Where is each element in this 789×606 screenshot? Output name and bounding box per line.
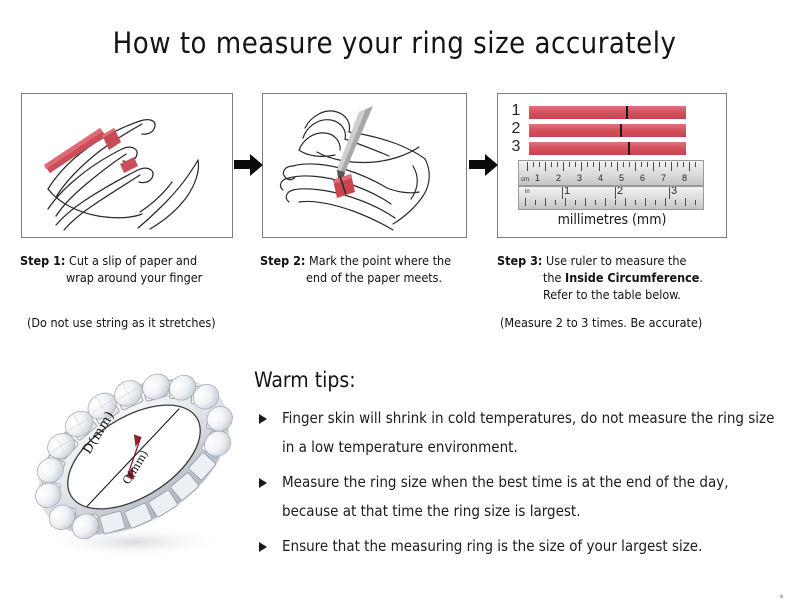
- step-1-note: (Do not use string as it stretches): [27, 315, 216, 330]
- step-3-caption: Step 3: Use ruler to measure the the Ins…: [497, 252, 747, 303]
- inside-circumference-emphasis: Inside Circumference: [565, 270, 699, 285]
- ruler-cm-scale: cm 1 2 3 4 5 6 7 8: [518, 160, 704, 186]
- ruler-cm-label: 1: [535, 174, 540, 183]
- hand-with-paper-slip-illustration: [22, 94, 233, 238]
- strip-mark: [628, 142, 630, 155]
- step-3-label: Step 3:: [497, 253, 542, 268]
- paper-strip-row: 1: [508, 106, 696, 119]
- warm-tip-item: Ensure that the measuring ring is the si…: [255, 532, 775, 561]
- step-2-label: Step 2:: [260, 253, 305, 268]
- warm-tips-heading: Warm tips:: [254, 368, 356, 392]
- ring-figure: D(mm) C(mm): [18, 352, 250, 567]
- paper-strip-row: 3: [508, 142, 696, 155]
- ruler-cm-unit: cm: [521, 176, 529, 185]
- scan-artifact-speck: [780, 595, 783, 598]
- warm-tip-item: Measure the ring size when the best time…: [255, 468, 775, 526]
- hand-marking-paper-with-pen-illustration: [263, 94, 467, 238]
- arrow-head: [250, 154, 263, 176]
- bullet-triangle-icon: [259, 414, 267, 424]
- step-1-caption: Step 1: Cut a slip of paper and wrap aro…: [20, 252, 252, 286]
- ruler-inch-label: 2: [617, 187, 623, 196]
- step-1-line1: Cut a slip of paper and: [69, 253, 197, 268]
- page-title: How to measure your ring size accurately: [0, 26, 789, 60]
- ruler-inch-scale: in 1 2 3: [518, 186, 704, 210]
- ruler-inch-label: 1: [564, 187, 570, 196]
- step-2-caption: Step 2: Mark the point where the end of …: [260, 252, 485, 286]
- warm-tip-text: Finger skin will shrink in cold temperat…: [282, 409, 774, 456]
- strip-number: 1: [508, 102, 524, 120]
- step-1-panel: [21, 93, 233, 238]
- step-3-note: (Measure 2 to 3 times. Be accurate): [500, 315, 702, 330]
- strip-mark: [626, 106, 628, 119]
- ruler-cm-label: 5: [619, 174, 624, 183]
- millimetres-caption: millimetres (mm): [497, 212, 727, 228]
- strip-number: 3: [508, 138, 524, 156]
- strip-bar: [529, 106, 686, 119]
- ruler-graphic: cm 1 2 3 4 5 6 7 8 in 1 2 3: [518, 160, 704, 210]
- paper-strip-row: 2: [508, 124, 696, 137]
- ruler-cm-label: 4: [598, 174, 603, 183]
- step-3-line2-post: .: [699, 270, 703, 285]
- strip-mark: [620, 124, 622, 137]
- step-3-line3: Refer to the table below.: [497, 286, 747, 303]
- step-3-line1: Use ruler to measure the: [546, 253, 686, 268]
- bullet-triangle-icon: [259, 542, 267, 552]
- ruler-cm-label: 6: [640, 174, 645, 183]
- ruler-inch-label: 3: [671, 187, 677, 196]
- ruler-cm-label: 8: [682, 174, 687, 183]
- step-3-line2: the Inside Circumference.: [497, 269, 747, 286]
- strip-bar: [529, 124, 686, 137]
- step-1-label: Step 1:: [20, 253, 65, 268]
- strip-bar: [529, 142, 686, 155]
- warm-tips-list: Finger skin will shrink in cold temperat…: [255, 404, 775, 567]
- step-3-line2-pre: the: [543, 270, 565, 285]
- ruler-cm-label: 7: [661, 174, 666, 183]
- arrow-head: [485, 154, 498, 176]
- step-2-panel: [262, 93, 467, 238]
- warm-tip-item: Finger skin will shrink in cold temperat…: [255, 404, 775, 462]
- step-2-line1: Mark the point where the: [309, 253, 451, 268]
- strip-number: 2: [508, 120, 524, 138]
- ruler-cm-label: 2: [556, 174, 561, 183]
- warm-tip-text: Measure the ring size when the best time…: [282, 473, 729, 520]
- ruler-cm-label: 3: [577, 174, 582, 183]
- step-1-line2: wrap around your finger: [20, 269, 252, 286]
- warm-tip-text: Ensure that the measuring ring is the si…: [282, 537, 702, 555]
- step-2-line2: end of the paper meets.: [260, 269, 485, 286]
- bullet-triangle-icon: [259, 478, 267, 488]
- ruler-inch-unit: in: [525, 188, 530, 197]
